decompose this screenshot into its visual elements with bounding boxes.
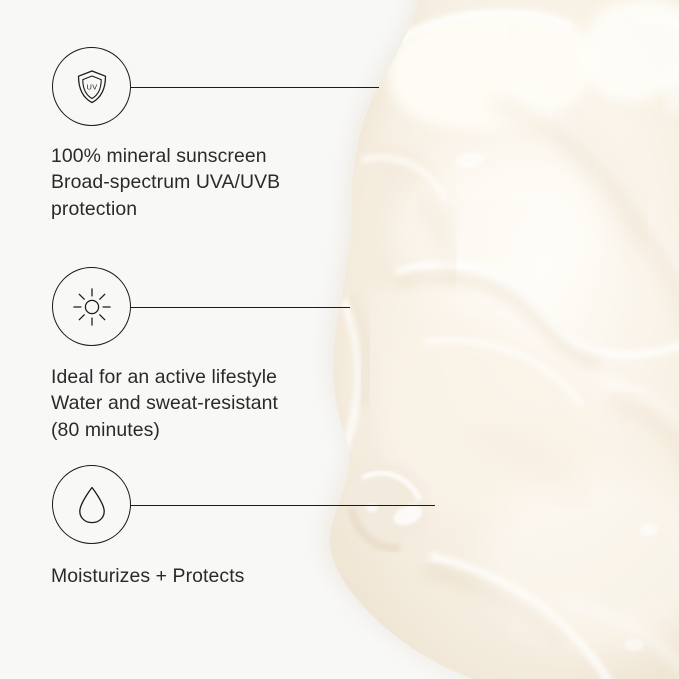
feature-icon-circle-active-lifestyle [52,267,131,346]
leader-line-active-lifestyle [131,307,350,308]
uv-shield-icon-label: UV [86,82,97,91]
feature-icon-circle-moisturizes [52,465,131,544]
uv-shield-icon: UV [72,67,112,107]
feature-text-uv-protection: 100% mineral sunscreen Broad-spectrum UV… [51,143,280,222]
leader-line-uv-protection [131,87,379,88]
product-feature-infographic: UV 100% mineral sunscreen Broad-spectrum… [0,0,679,679]
feature-text-active-lifestyle: Ideal for an active lifestyle Water and … [51,364,278,443]
feature-icon-circle-uv-protection: UV [52,47,131,126]
feature-text-moisturizes: Moisturizes + Protects [51,563,244,589]
sun-icon [71,286,113,328]
water-droplet-icon [75,484,109,526]
leader-line-moisturizes [131,505,435,506]
